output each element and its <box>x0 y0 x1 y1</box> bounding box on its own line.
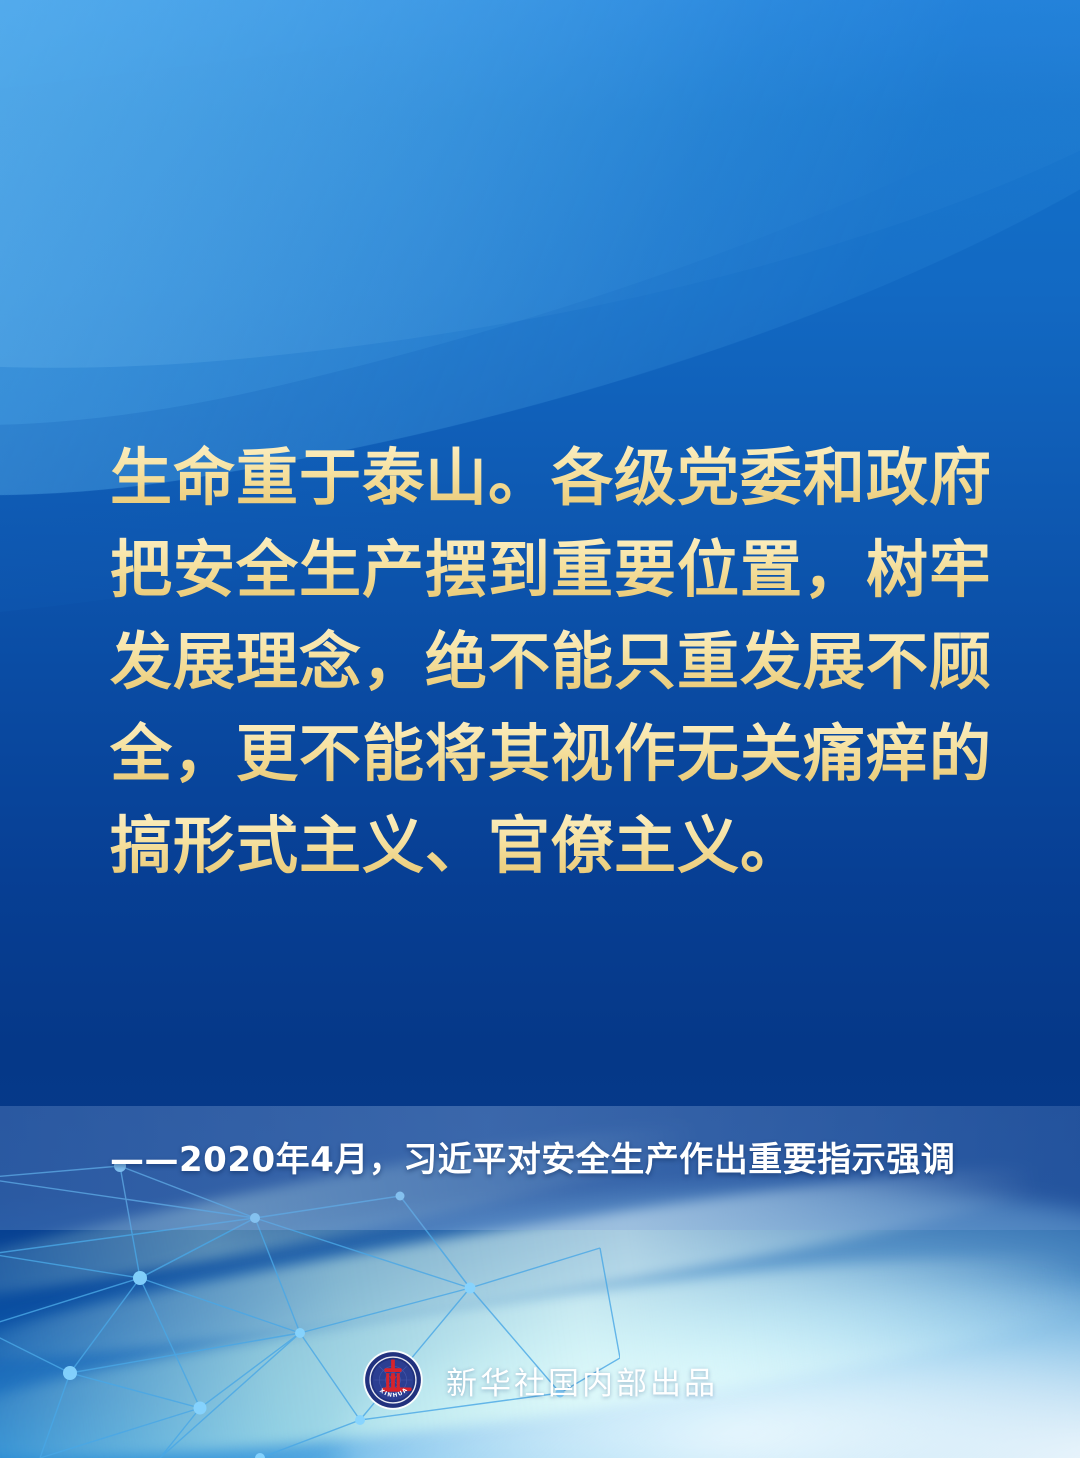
quote-line-3: 发展理念，绝不能只重发展不顾安 <box>110 616 990 708</box>
quote-line-2: 把安全生产摆到重要位置，树牢安全 <box>110 524 990 616</box>
quote-line-4: 全，更不能将其视作无关痛痒的事， <box>110 708 990 800</box>
quote-line-5: 搞形式主义、官僚主义。 <box>110 800 990 892</box>
quote-block: 生命重于泰山。各级党委和政府务必 把安全生产摆到重要位置，树牢安全 发展理念，绝… <box>110 432 990 892</box>
poster-canvas: 生命重于泰山。各级党委和政府务必 把安全生产摆到重要位置，树牢安全 发展理念，绝… <box>0 0 1080 1458</box>
xinhua-emblem-icon: XINHUA <box>362 1349 424 1411</box>
background-swoosh-secondary <box>0 0 1080 426</box>
quote-line-1: 生命重于泰山。各级党委和政府务必 <box>110 432 990 524</box>
attribution-text: ——2020年4月，习近平对安全生产作出重要指示强调 <box>110 1138 1010 1182</box>
footer-label: 新华社国内部出品 <box>446 1358 718 1403</box>
footer: XINHUA 新华社国内部出品 <box>0 1345 1080 1415</box>
background-swoosh-tertiary <box>0 0 1080 500</box>
